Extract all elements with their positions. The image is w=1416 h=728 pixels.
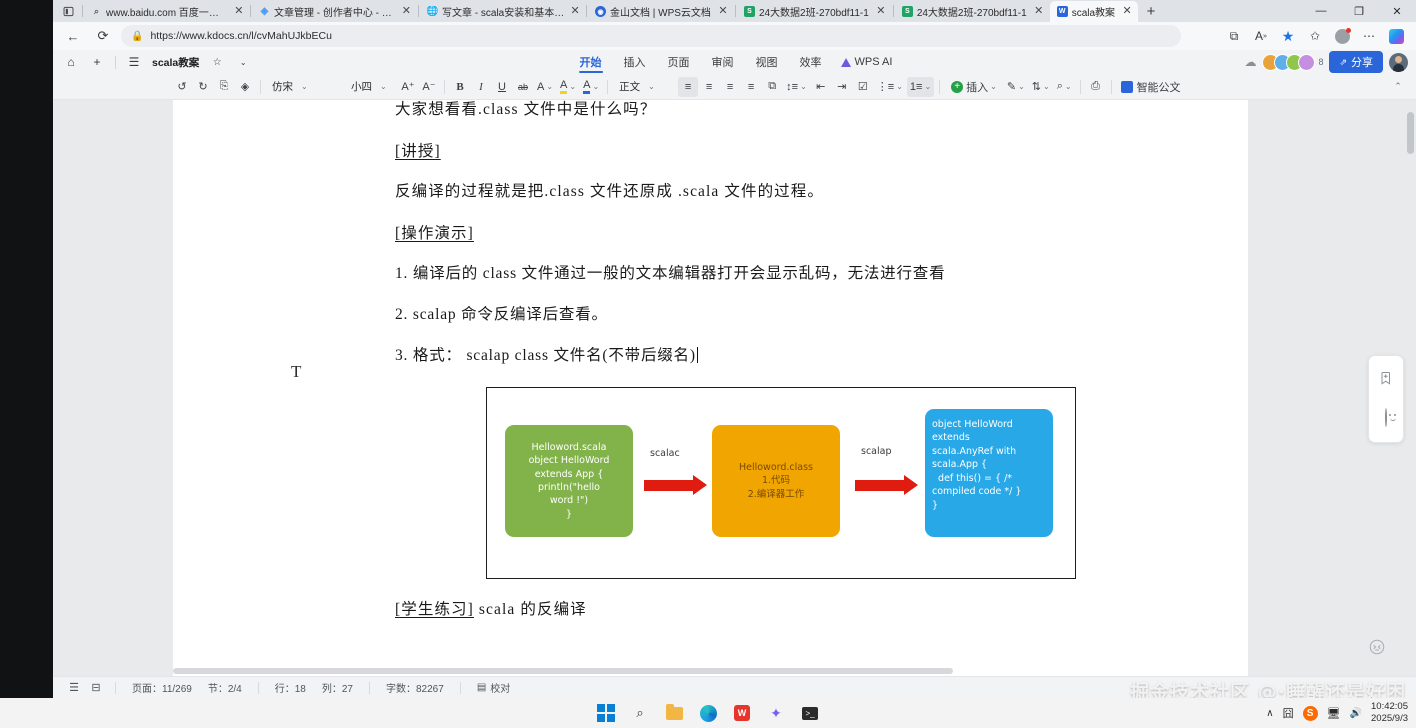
shrink-font-button[interactable]: A⁻ xyxy=(419,77,439,97)
diagram-box-source-text: Helloword.scalaobject HelloWordextends A… xyxy=(529,441,610,522)
tab-close-icon[interactable]: ✕ xyxy=(1121,6,1133,17)
font-size-value: 小四 xyxy=(351,79,372,94)
tab-divider xyxy=(418,5,419,17)
browser-tab-3[interactable]: ◉ 金山文档 | WPS云文档 ✕ xyxy=(588,1,734,22)
paragraph-6-text: 3. 格式： scalap class 文件名(不带后缀名) xyxy=(395,347,696,364)
tab-label: 24大数据2班-270bdf11-1 xyxy=(759,4,869,19)
paragraph-3: [操作演示] xyxy=(395,226,474,242)
share-icon: ⇗ xyxy=(1339,57,1347,68)
insert-label: 插入 xyxy=(966,79,988,95)
tab-divider xyxy=(893,5,894,17)
tab-close-icon[interactable]: ✕ xyxy=(717,6,729,17)
wps-status-bar: ☰ ⊟ 页面：11/269 节：2/4 行：18 列：27 字数：82267 ▤… xyxy=(53,676,1416,698)
strikethrough-button[interactable]: ab xyxy=(513,77,533,97)
ribbon-right-actions: ⌃ xyxy=(1388,77,1408,97)
text-cursor xyxy=(697,347,698,363)
divider xyxy=(115,682,116,694)
style-value: 正文 xyxy=(619,79,640,94)
paragraph-style-select[interactable]: 正文 ⌄ xyxy=(613,77,677,97)
highlight-color-button[interactable]: A⌄ xyxy=(557,77,579,97)
wps-icon[interactable]: W xyxy=(732,703,752,723)
number-list-label: 1≡ xyxy=(910,81,923,93)
document-body[interactable]: 大家想看看.class 文件中是什么吗？ [讲授] 反编译的过程就是把.clas… xyxy=(395,102,1185,364)
chevron-down-icon: ⌄ xyxy=(924,82,931,91)
taskbar-system-tray: ∧ 囧 S 🖥 🔊 10:42:05 2025/9/3 xyxy=(1266,701,1416,725)
divider xyxy=(1080,80,1081,94)
wps-cloud-icon: ◉ xyxy=(595,6,606,17)
ribbon-tabs: 开始 插入 页面 审阅 视图 效率 WPS AI xyxy=(569,50,901,74)
add-document-icon[interactable]: + xyxy=(85,52,109,72)
font-name-select[interactable]: 仿宋 ⌄ xyxy=(266,77,344,97)
tab-close-icon[interactable]: ✕ xyxy=(570,6,580,17)
document-side-panel xyxy=(1368,355,1404,443)
tab-label: 金山文档 | WPS云文档 xyxy=(610,4,711,19)
arrow-label-scalac: scalac xyxy=(650,448,680,459)
tab-label: 24大数据2班-270bdf11-1 xyxy=(917,4,1027,19)
omnibar-actions: ⧉ A» ★ ✩ ⋯ xyxy=(1222,25,1408,47)
grow-font-button[interactable]: A⁺ xyxy=(398,77,418,97)
plus-icon: + xyxy=(951,81,963,93)
chevron-down-icon: ⌄ xyxy=(301,82,308,91)
tab-label: www.baidu.com 百度一下 - 搜索 xyxy=(106,4,228,19)
share-label: 分享 xyxy=(1351,54,1373,70)
tab-start[interactable]: 开始 xyxy=(569,50,613,74)
tab-close-icon[interactable]: ✕ xyxy=(401,6,412,17)
paragraph-2: 反编译的过程就是把.class 文件还原成 .scala 文件的过程。 xyxy=(395,184,1185,200)
document-title[interactable]: scala教案 xyxy=(148,55,203,70)
close-window-button[interactable]: ✕ xyxy=(1378,0,1416,22)
diagram-box-source: Helloword.scalaobject HelloWordextends A… xyxy=(505,425,633,537)
browser-tab-strip: ⌕ www.baidu.com 百度一下 - 搜索 ✕ ◈ 文章管理 - 创作者… xyxy=(53,0,1416,22)
proofread-icon: ▤ xyxy=(477,682,486,693)
section-indicator[interactable]: 节：2/4 xyxy=(200,680,250,695)
horizontal-scrollbar-thumb[interactable] xyxy=(173,668,953,674)
taskbar-clock[interactable]: 10:42:05 2025/9/3 xyxy=(1371,701,1408,725)
browser-tab-4[interactable]: S 24大数据2班-270bdf11-1 ✕ xyxy=(737,1,892,22)
page-view-icon[interactable]: ⊟ xyxy=(85,680,107,696)
browser-tab-6-active[interactable]: W scala教案 ✕ xyxy=(1050,1,1138,22)
browser-address-bar: ← ⟳ 🔒 https://www.kdocs.cn/l/cvMahUJkbEC… xyxy=(53,22,1416,50)
chevron-down-icon: ⌄ xyxy=(1043,82,1050,91)
ime-icon[interactable]: 囧 xyxy=(1283,705,1294,721)
word-icon: W xyxy=(1057,6,1068,17)
browser-tab-1[interactable]: ◈ 文章管理 - 创作者中心 - 掘金 ✕ xyxy=(252,1,417,22)
line-spacing-label: ↕≡ xyxy=(786,81,798,93)
horizontal-scrollbar[interactable] xyxy=(173,668,1073,674)
document-bar-right: ☁ 8 ⇗ 分享 xyxy=(1244,51,1416,73)
search-icon: ⌕ xyxy=(1057,80,1063,93)
divider xyxy=(260,80,261,94)
desktop: ⌕ www.baidu.com 百度一下 - 搜索 ✕ ◈ 文章管理 - 创作者… xyxy=(0,0,1416,728)
chevron-down-icon: ⌄ xyxy=(380,82,387,91)
tab-divider xyxy=(250,5,251,17)
underline-button[interactable]: U xyxy=(492,77,512,97)
document-page: T 大家想看看.class 文件中是什么吗？ [讲授] 反编译的过程就是把.cl… xyxy=(173,100,1248,676)
ink-button[interactable]: ✎⌄ xyxy=(1004,77,1028,97)
text-tools-button[interactable]: ⇅⌄ xyxy=(1029,77,1053,97)
font-color-button[interactable]: A⌄ xyxy=(580,77,602,97)
divider xyxy=(460,682,461,694)
tab-label: 文章管理 - 创作者中心 - 掘金 xyxy=(274,4,395,19)
chevron-down-icon: ⌄ xyxy=(546,82,553,91)
volume-icon[interactable]: 🔊 xyxy=(1350,708,1362,719)
tab-view[interactable]: 视图 xyxy=(745,50,789,74)
tab-review[interactable]: 审阅 xyxy=(701,50,745,74)
paragraph-5: 2. scalap 命令反编译后查看。 xyxy=(395,307,1185,323)
juejin-icon: ◈ xyxy=(259,6,270,17)
tab-close-icon[interactable]: ✕ xyxy=(1033,6,1045,17)
bookmark-plus-icon[interactable] xyxy=(1379,371,1394,390)
sogou-icon[interactable]: S xyxy=(1303,706,1318,721)
diagram-box-decompiled: object HelloWordextendsscala.AnyRef with… xyxy=(925,409,1053,537)
chevron-down-icon: ⌄ xyxy=(569,82,576,91)
compile-flow-diagram[interactable]: Helloword.scalaobject HelloWordextends A… xyxy=(486,387,1076,579)
menu-icon[interactable]: ☰ xyxy=(122,52,146,72)
divider xyxy=(607,80,608,94)
terminal-icon[interactable]: >_ xyxy=(800,703,820,723)
smart-doc-label: 智能公文 xyxy=(1137,79,1181,95)
chevron-down-icon[interactable]: ⌄ xyxy=(231,52,255,72)
format-painter-button[interactable]: ⎘ xyxy=(214,77,234,97)
paragraph-0: 大家想看看.class 文件中是什么吗？ xyxy=(395,102,1185,118)
divider xyxy=(115,56,116,69)
url-input[interactable]: 🔒 https://www.kdocs.cn/l/cvMahUJkbECu xyxy=(121,25,1181,47)
distribute-button[interactable]: ⧉ xyxy=(762,77,782,97)
outline-view-icon[interactable]: ☰ xyxy=(63,680,85,696)
copilot-icon[interactable]: ✦ xyxy=(766,703,786,723)
windows-start-icon[interactable] xyxy=(596,703,616,723)
bold-button[interactable]: B xyxy=(450,77,470,97)
reload-button[interactable]: ⟳ xyxy=(91,25,115,47)
lock-icon: 🔒 xyxy=(131,31,143,42)
browser-tab-5[interactable]: S 24大数据2班-270bdf11-1 ✕ xyxy=(895,1,1050,22)
wps-ai-icon xyxy=(841,58,851,67)
search-icon: ⌕ xyxy=(91,6,102,17)
line-indicator[interactable]: 行：18 xyxy=(267,680,314,695)
search-icon[interactable]: ⌕ xyxy=(630,703,650,723)
undo-button[interactable]: ↺ xyxy=(172,77,192,97)
browser-settings-icon[interactable]: ⋯ xyxy=(1357,25,1381,47)
diagram-box-class-text: Helloword.class1.代码2.编译器工作 xyxy=(739,461,813,501)
paragraph-trailing-rest: scala 的反编译 xyxy=(474,601,587,618)
globe-icon: 🌐 xyxy=(427,6,438,17)
share-button[interactable]: ⇗ 分享 xyxy=(1329,51,1383,73)
paragraph-4: 1. 编译后的 class 文件通过一般的文本编辑器打开会显示乱码，无法进行查看 xyxy=(395,266,1185,282)
proofread-button[interactable]: ▤ 校对 xyxy=(469,680,518,695)
chevron-down-icon: ⌄ xyxy=(1065,82,1072,91)
sheet-icon: S xyxy=(744,6,755,17)
avatar xyxy=(1298,54,1315,71)
diagram-box-class: Helloword.class1.代码2.编译器工作 xyxy=(712,425,840,537)
browser-tab-2[interactable]: 🌐 写文章 - scala安装和基本使用 - 掘 ✕ xyxy=(420,1,585,22)
chevron-down-icon: ⌄ xyxy=(592,82,599,91)
divider xyxy=(369,682,370,694)
tab-label: 写文章 - scala安装和基本使用 - 掘 xyxy=(442,4,564,19)
maximize-button[interactable]: ❐ xyxy=(1340,0,1378,22)
minimize-button[interactable]: — xyxy=(1302,0,1340,22)
bullet-list-button[interactable]: ⋮≡⌄ xyxy=(874,77,906,97)
increase-indent-button[interactable]: ⇥ xyxy=(832,77,852,97)
clock-date: 2025/9/3 xyxy=(1371,713,1408,725)
chevron-down-icon: ⌄ xyxy=(896,82,903,91)
font-color-label: A xyxy=(583,79,590,94)
taskbar-icons: ⌕ W ✦ >_ xyxy=(596,703,820,723)
favorite-star-icon[interactable]: ★ xyxy=(1276,25,1300,47)
vertical-scrollbar-thumb[interactable] xyxy=(1407,112,1414,154)
browser-window: ⌕ www.baidu.com 百度一下 - 搜索 ✕ ◈ 文章管理 - 创作者… xyxy=(53,0,1416,698)
tab-insert[interactable]: 插入 xyxy=(613,50,657,74)
paragraph-1: [讲授] xyxy=(395,144,441,160)
tab-divider xyxy=(735,5,736,17)
smart-doc-button[interactable]: 智能公文 xyxy=(1117,79,1185,95)
word-count-indicator[interactable]: 字数：82267 xyxy=(378,680,452,695)
cloud-sync-icon[interactable]: ☁ xyxy=(1244,55,1256,69)
italic-button[interactable]: I xyxy=(471,77,491,97)
user-avatar[interactable] xyxy=(1389,53,1408,72)
print-button[interactable]: ⎙ xyxy=(1086,77,1106,97)
divider xyxy=(1111,80,1112,94)
clock-time: 10:42:05 xyxy=(1371,701,1408,713)
vertical-scrollbar[interactable] xyxy=(1407,104,1414,644)
ink-label: ✎ xyxy=(1007,80,1016,93)
clear-format-button[interactable]: ◈ xyxy=(235,77,255,97)
divider xyxy=(444,80,445,94)
read-aloud-icon[interactable]: A» xyxy=(1249,25,1273,47)
highlight-label: A xyxy=(560,79,567,94)
chevron-down-icon: ⌄ xyxy=(648,82,655,91)
home-icon[interactable]: ⌂ xyxy=(59,52,83,72)
arrow-label-scalap: scalap xyxy=(861,446,892,457)
emoji-icon[interactable] xyxy=(1385,409,1387,427)
smart-doc-icon xyxy=(1121,81,1133,93)
tab-close-icon[interactable]: ✕ xyxy=(234,6,244,17)
wps-ai-label: WPS AI xyxy=(855,56,893,68)
tab-search-panel-icon[interactable] xyxy=(55,0,81,22)
window-controls: — ❐ ✕ xyxy=(1302,0,1416,22)
checkbox-list-button[interactable]: ☑ xyxy=(853,77,873,97)
decrease-indent-button[interactable]: ⇤ xyxy=(811,77,831,97)
column-indicator[interactable]: 列：27 xyxy=(314,680,361,695)
feedback-icon[interactable] xyxy=(1366,636,1388,658)
align-justify-button[interactable]: ≡ xyxy=(741,77,761,97)
file-explorer-icon[interactable] xyxy=(664,703,684,723)
collections-icon[interactable]: ✩ xyxy=(1303,25,1327,47)
tab-divider xyxy=(82,5,83,17)
align-center-button[interactable]: ≡ xyxy=(699,77,719,97)
divider xyxy=(258,682,259,694)
profile-avatar[interactable] xyxy=(1330,25,1354,47)
back-button[interactable]: ← xyxy=(61,25,85,47)
tab-page[interactable]: 页面 xyxy=(657,50,701,74)
tray-chevron-icon[interactable]: ∧ xyxy=(1266,708,1273,719)
page-indicator[interactable]: 页面：11/269 xyxy=(124,680,200,695)
divider xyxy=(939,80,940,94)
wps-ai-button[interactable]: WPS AI xyxy=(833,56,901,68)
windows-taskbar: ⌕ W ✦ >_ ∧ 囧 S 🖥 🔊 10:42:05 2025/9/3 xyxy=(0,698,1416,728)
chevron-down-icon: ⌄ xyxy=(990,82,997,91)
tab-efficiency[interactable]: 效率 xyxy=(789,50,833,74)
paragraph-trailing: [学生练习] scala 的反编译 xyxy=(395,597,587,619)
diagram-box-decompiled-text: object HelloWordextendsscala.AnyRef with… xyxy=(932,418,1021,512)
new-tab-button[interactable]: + xyxy=(1138,1,1164,22)
proofread-label: 校对 xyxy=(490,680,510,695)
text-effect-button[interactable]: A⌄ xyxy=(534,77,556,97)
split-screen-icon[interactable]: ⧉ xyxy=(1222,25,1246,47)
tab-close-icon[interactable]: ✕ xyxy=(875,6,887,17)
collaborator-avatars[interactable]: 8 xyxy=(1262,54,1323,71)
font-size-select[interactable]: 小四 ⌄ xyxy=(345,77,397,97)
text-tools-label: ⇅ xyxy=(1032,80,1041,93)
chevron-down-icon: ⌄ xyxy=(800,82,807,91)
star-icon[interactable]: ☆ xyxy=(205,52,229,72)
align-right-button[interactable]: ≡ xyxy=(720,77,740,97)
monitor-icon[interactable]: 🖥 xyxy=(1327,707,1341,720)
wps-document-app: ⌂ + ☰ scala教案 ☆ ⌄ 开始 插入 页面 审阅 视图 效率 WPS … xyxy=(53,50,1416,698)
url-text: https://www.kdocs.cn/l/cvMahUJkbECu xyxy=(150,30,331,42)
document-canvas[interactable]: T 大家想看看.class 文件中是什么吗？ [讲授] 反编译的过程就是把.cl… xyxy=(53,100,1416,676)
arrow-scalac xyxy=(644,480,694,491)
line-spacing-button[interactable]: ↕≡⌄ xyxy=(783,77,810,97)
number-list-button[interactable]: 1≡⌄ xyxy=(907,77,934,97)
align-left-button[interactable]: ≡ xyxy=(678,77,698,97)
wps-ribbon-toolbar: ↺ ↻ ⎘ ◈ 仿宋 ⌄ 小四 ⌄ A⁺ A⁻ B I U ab xyxy=(53,74,1416,100)
font-name-value: 仿宋 xyxy=(272,79,293,94)
bullet-list-label: ⋮≡ xyxy=(877,80,894,93)
margin-text-mark: T xyxy=(291,362,301,382)
wps-document-bar: ⌂ + ☰ scala教案 ☆ ⌄ 开始 插入 页面 审阅 视图 效率 WPS … xyxy=(53,50,1416,74)
sheet-icon: S xyxy=(902,6,913,17)
insert-button[interactable]: + 插入 ⌄ xyxy=(945,77,1003,97)
paragraph-6: 3. 格式： scalap class 文件名(不带后缀名) xyxy=(395,347,1185,364)
collaborator-count: 8 xyxy=(1318,57,1323,67)
text-effect-label: A xyxy=(537,81,544,93)
paragraph-trailing-underlined: [学生练习] xyxy=(395,601,474,618)
collapse-ribbon-icon[interactable]: ⌃ xyxy=(1388,77,1408,97)
edge-icon[interactable] xyxy=(698,703,718,723)
tab-label: scala教案 xyxy=(1072,4,1115,19)
redo-button[interactable]: ↻ xyxy=(193,77,213,97)
find-button[interactable]: ⌕⌄ xyxy=(1054,77,1075,97)
desktop-left-strip xyxy=(0,0,53,698)
copilot-icon[interactable] xyxy=(1384,25,1408,47)
chevron-down-icon: ⌄ xyxy=(1018,82,1025,91)
tab-divider xyxy=(586,5,587,17)
browser-tab-0[interactable]: ⌕ www.baidu.com 百度一下 - 搜索 ✕ xyxy=(84,1,249,22)
arrow-scalap xyxy=(855,480,905,491)
